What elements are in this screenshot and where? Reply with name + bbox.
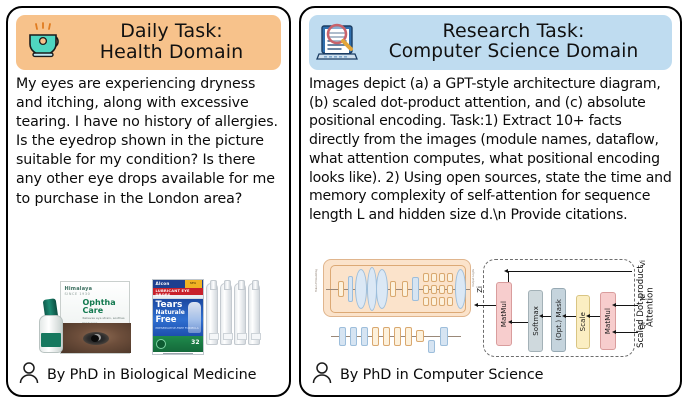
arch-lens [376, 269, 388, 309]
arch-block [431, 285, 437, 294]
daily-task-product-images: Himalaya SINCE 1930 Ophtha Care Relieves… [16, 271, 281, 359]
arch-block [439, 285, 445, 294]
arch-block [439, 273, 445, 282]
research-task-title-line1: Research Task: [361, 21, 666, 42]
mask-to-softmax-arrow [543, 316, 551, 317]
attention-dashed-border: MatMul Softmax (Opt.) Mask [483, 259, 635, 357]
matmul-to-scale-arrow [590, 316, 600, 317]
tears-naturale-free-product: Alcon NEW LUBRICANT EYE DROPS Tears Natu… [152, 277, 264, 355]
attention-box-matmul-qk: MatMul [600, 292, 616, 350]
daily-task-title-line1: Daily Task: [68, 21, 275, 42]
value-input-arrow [508, 271, 632, 272]
attention-box-mask: (Opt.) Mask [551, 288, 566, 352]
arch-block [423, 285, 429, 294]
arch-block [431, 273, 437, 282]
arch-block [423, 297, 429, 306]
daily-task-card: Daily Task: Health Domain My eyes are ex… [6, 6, 291, 397]
tears-naturale-box: Alcon NEW LUBRICANT EYE DROPS Tears Natu… [152, 279, 204, 355]
architecture-left-caption: Token Embedding [315, 269, 318, 292]
seal-badge [156, 339, 166, 349]
output-label-zi: Zi [476, 286, 484, 293]
ophthacare-eyedrop-product: Himalaya SINCE 1930 Ophtha Care Relieves… [34, 281, 130, 355]
ophthacare-brand-sub: SINCE 1930 [65, 292, 91, 296]
red-band-text: LUBRICANT EYE DROPS [156, 289, 203, 297]
arch-block [338, 281, 344, 297]
alcon-banner: Alcon NEW [153, 280, 203, 288]
green-panel: 32 [153, 336, 203, 352]
eye-photo [61, 323, 131, 353]
barcode-strip [153, 353, 203, 355]
daily-task-header: Daily Task: Health Domain [16, 15, 281, 70]
arch-lens [355, 269, 367, 309]
laptop-document-magnifier-icon [315, 19, 361, 65]
scale-to-mask-arrow [566, 316, 576, 317]
attention-caption-line2: Attention [646, 287, 656, 327]
ophthacare-box: Himalaya SINCE 1930 Ophtha Care Relieves… [60, 281, 130, 354]
arch-block [423, 273, 429, 282]
research-task-footer: By PhD in Computer Science [309, 359, 672, 391]
research-task-header: Research Task: Computer Science Domain [309, 15, 672, 70]
daily-task-body: My eyes are experiencing dryness and itc… [16, 75, 281, 209]
vial [220, 283, 232, 345]
attention-box-softmax: Softmax [528, 290, 543, 352]
ophthacare-bottle [36, 299, 66, 353]
research-task-body: Images depict (a) a GPT-style architectu… [309, 75, 672, 225]
pe-block [405, 327, 412, 346]
query-input-arrow [616, 332, 638, 333]
arch-block [348, 276, 353, 302]
pe-block [350, 327, 357, 346]
arch-block [447, 297, 453, 306]
arch-block [447, 285, 453, 294]
blue-panel: Tears Naturale Free PRESERVATIVE-FREE FO… [153, 299, 203, 336]
research-task-attribution: By PhD in Computer Science [340, 367, 543, 383]
bottle-label [41, 333, 61, 347]
softmax-to-matmul-arrow [512, 322, 528, 323]
pe-block [440, 327, 448, 346]
output-arrow [478, 305, 496, 306]
person-icon [18, 361, 40, 389]
daily-task-title-line2: Health Domain [68, 42, 275, 63]
arch-block [402, 281, 408, 297]
arch-block [390, 281, 396, 297]
key-input-arrow [616, 305, 638, 306]
positional-encoding-strip [331, 323, 463, 353]
pe-block [361, 327, 368, 346]
attention-caption: Scaled Dot-product Attention [637, 257, 671, 359]
architecture-panel [323, 259, 471, 317]
pe-block [383, 327, 390, 346]
vial [234, 283, 246, 345]
pe-block [416, 330, 424, 342]
attention-box-matmul-out: MatMul [496, 282, 512, 346]
arch-block [447, 273, 453, 282]
attention-caption-line1: Scaled Dot-product [636, 266, 646, 349]
attention-box-scale: Scale [576, 295, 590, 349]
attention-wrapper: MatMul Softmax (Opt.) Mask [483, 257, 672, 359]
vial-strip [206, 283, 264, 353]
red-band: LUBRICANT EYE DROPS [153, 288, 203, 295]
pe-block [394, 327, 401, 346]
person-icon [311, 361, 333, 389]
research-task-title-line2: Computer Science Domain [361, 42, 666, 63]
ophthacare-product-name: Ophtha Care [83, 299, 129, 316]
pe-block [339, 327, 346, 346]
arch-block [431, 297, 437, 306]
arch-lens [455, 269, 466, 309]
daily-task-attribution: By PhD in Biological Medicine [47, 367, 256, 383]
pe-block [372, 327, 379, 346]
daily-task-footer: By PhD in Biological Medicine [16, 359, 281, 391]
alcon-brand: Alcon [156, 281, 170, 286]
new-flag: NEW [185, 280, 202, 288]
research-task-card: Research Task: Computer Science Domain I… [299, 6, 682, 397]
vial-illustration [188, 302, 201, 333]
arch-block [412, 277, 419, 301]
arch-block [439, 297, 445, 306]
vial-count: 32 [191, 339, 199, 346]
daily-task-title: Daily Task: Health Domain [68, 21, 275, 64]
task-cards-page: Daily Task: Health Domain My eyes are ex… [0, 0, 690, 405]
vial [206, 283, 218, 345]
vial [248, 283, 260, 345]
architecture-right-caption: Output Logits [472, 269, 475, 287]
research-task-title: Research Task: Computer Science Domain [361, 21, 666, 63]
research-task-diagrams: Token Embedding Output Logits [309, 255, 672, 359]
pe-block [428, 340, 435, 353]
teacup-icon [22, 19, 68, 65]
